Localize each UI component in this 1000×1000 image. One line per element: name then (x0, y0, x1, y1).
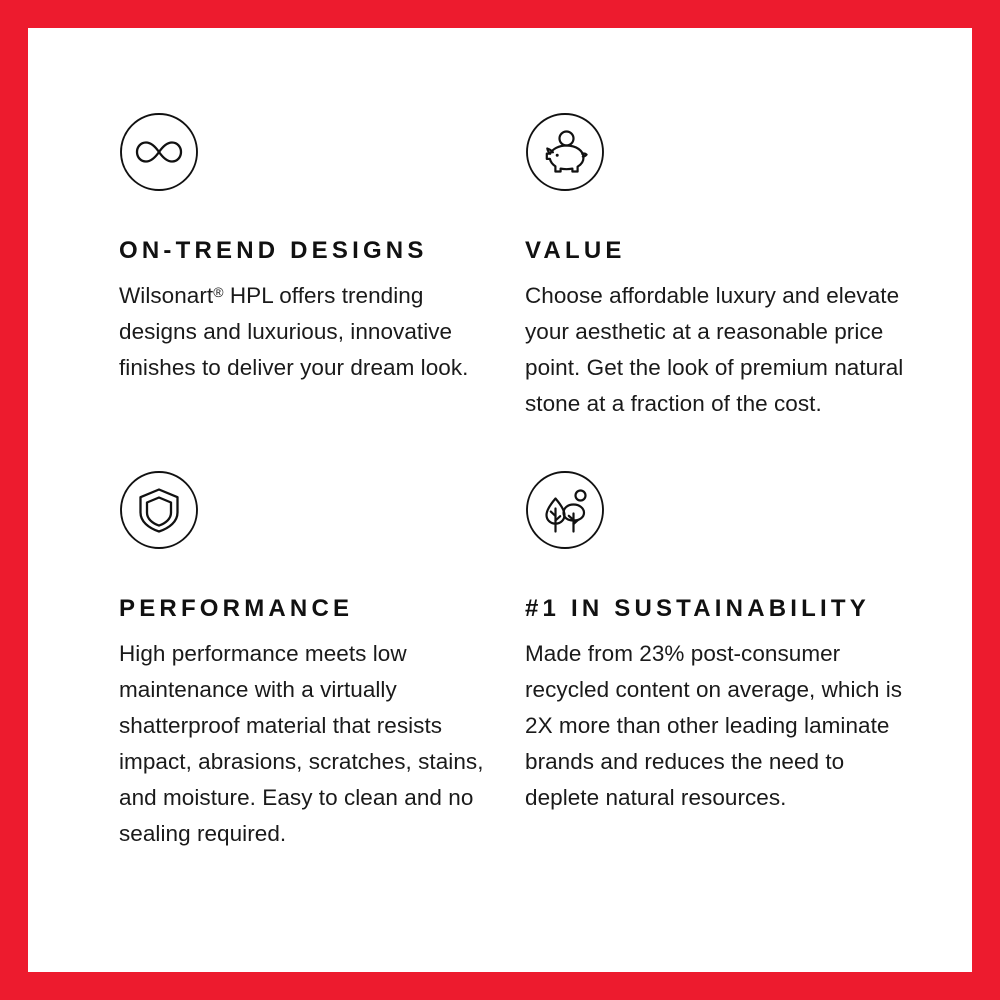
feature-body: Wilsonart® HPL offers trending designs a… (119, 278, 499, 386)
feature-grid: ON-TREND DESIGNS Wilsonart® HPL offers t… (28, 28, 972, 972)
piggy-bank-circle-icon (525, 112, 605, 192)
feature-block-sustainability: #1 IN SUSTAINABILITY Made from 23% post-… (525, 470, 905, 816)
feature-title: VALUE (525, 232, 905, 269)
infinity-circle-icon (119, 112, 199, 192)
registered-trademark-icon: ® (213, 284, 223, 300)
feature-body: High performance meets low maintenance w… (119, 636, 499, 852)
shield-circle-icon (119, 470, 199, 550)
feature-block-value: VALUE Choose affordable luxury and eleva… (525, 112, 905, 422)
feature-body: Made from 23% post-consumer recycled con… (525, 636, 905, 816)
feature-block-performance: PERFORMANCE High performance meets low m… (119, 470, 499, 852)
feature-body: Choose affordable luxury and elevate you… (525, 278, 905, 422)
content-card: ON-TREND DESIGNS Wilsonart® HPL offers t… (28, 28, 972, 972)
trees-sun-circle-icon (525, 470, 605, 550)
feature-title: ON-TREND DESIGNS (119, 232, 499, 269)
feature-body-prefix: Wilsonart (119, 283, 213, 308)
feature-title: #1 IN SUSTAINABILITY (525, 590, 905, 627)
feature-block-on-trend-designs: ON-TREND DESIGNS Wilsonart® HPL offers t… (119, 112, 499, 386)
feature-title: PERFORMANCE (119, 590, 499, 627)
